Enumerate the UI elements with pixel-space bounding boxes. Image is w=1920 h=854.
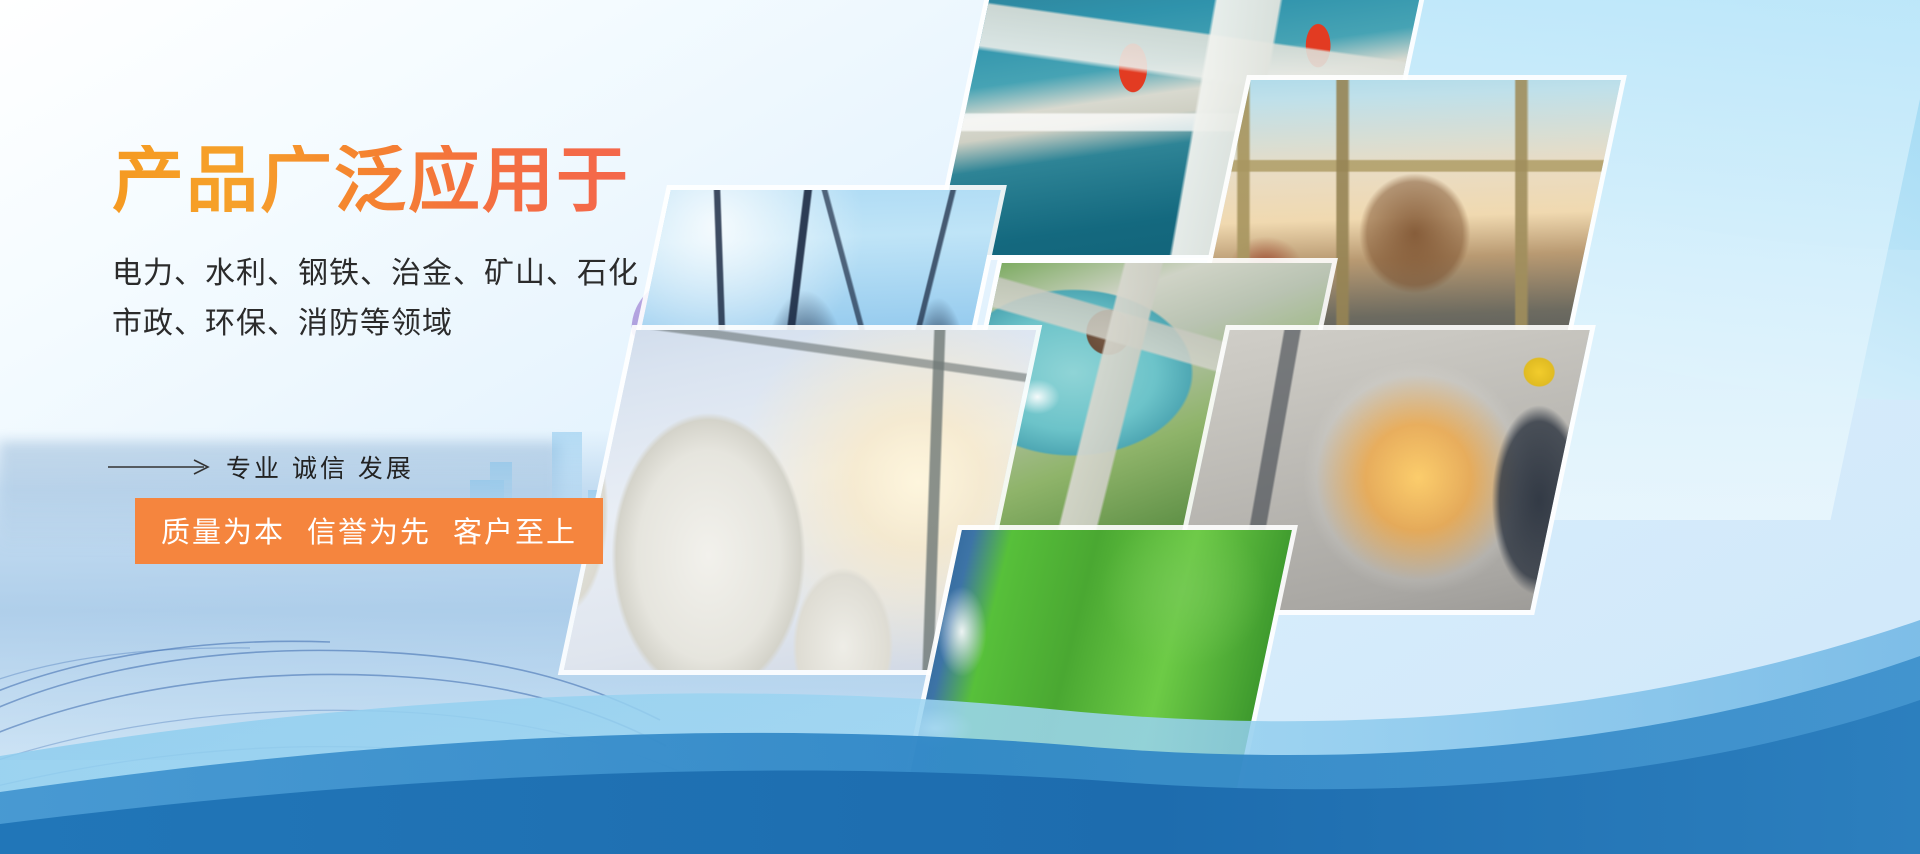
slogan-text: 质量为本信誉为先客户至上 — [161, 517, 577, 549]
slogan-part-1: 质量为本 — [161, 517, 285, 549]
slogan-part-3: 客户至上 — [453, 517, 577, 549]
slogan-part-2: 信誉为先 — [307, 517, 431, 549]
tagline-text: 专业 诚信 发展 — [226, 449, 414, 485]
page-title: 产品广泛应用于 — [112, 145, 630, 217]
slogan-badge: 质量为本信誉为先客户至上 — [135, 498, 603, 564]
subtitle-line-1: 电力、水利、钢铁、治金、矿山、石化 — [112, 248, 639, 292]
promotional-banner: 产品广泛应用于 电力、水利、钢铁、治金、矿山、石化 市政、环保、消防等领域 专业… — [0, 0, 1920, 854]
subtitle-line-2: 市政、环保、消防等领域 — [112, 298, 453, 342]
long-arrow-right-icon — [108, 458, 218, 476]
tagline-row: 专业 诚信 发展 — [108, 450, 414, 484]
banner-copy-block: 产品广泛应用于 电力、水利、钢铁、治金、矿山、石化 市政、环保、消防等领域 专业… — [0, 0, 720, 854]
